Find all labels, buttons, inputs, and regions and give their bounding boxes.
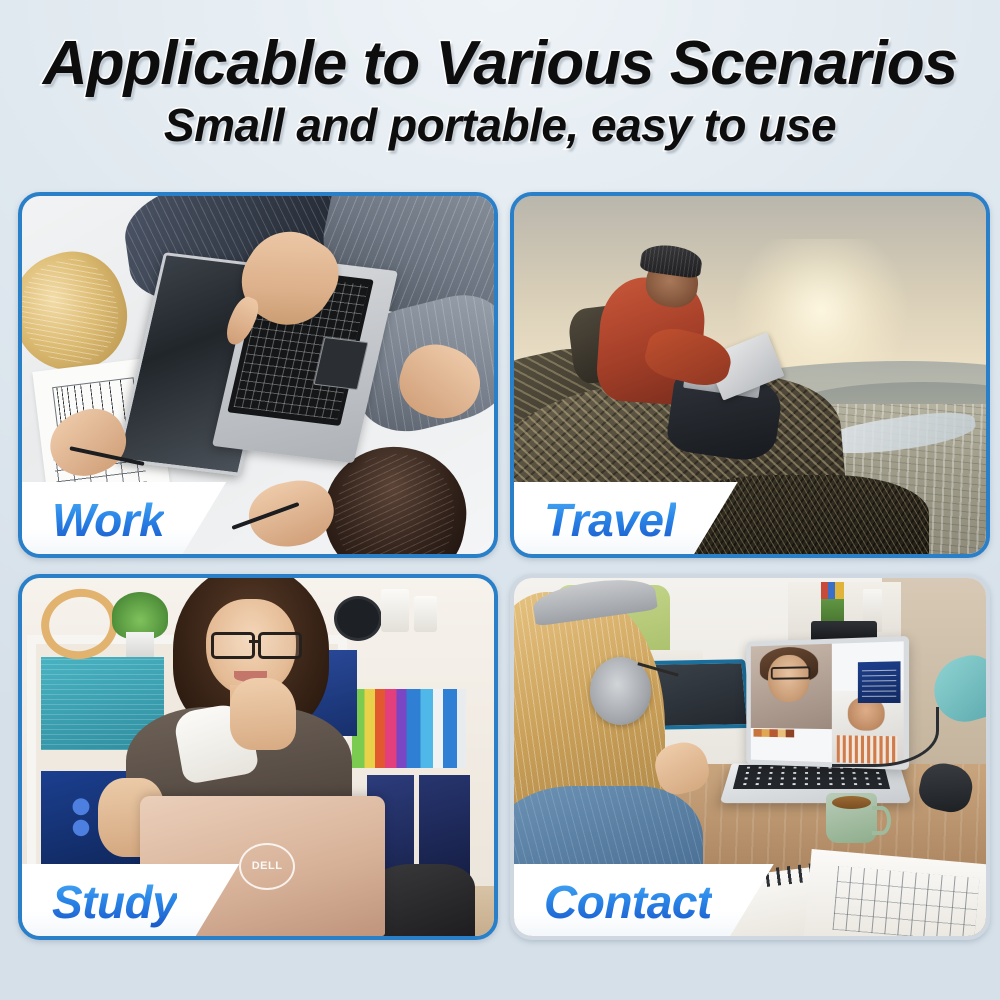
contact-blueprint-drawing (832, 866, 979, 936)
study-candle-two (414, 596, 438, 632)
page-title: Applicable to Various Scenarios (0, 0, 1000, 95)
scenario-card-travel[interactable]: Travel (510, 192, 990, 558)
contact-label-ribbon: Contact (510, 864, 774, 940)
study-glasses-left-lens (211, 632, 255, 659)
study-clock (334, 596, 382, 641)
study-plant-pot (126, 632, 154, 657)
study-dell-logo: DELL (239, 843, 295, 890)
scenario-card-grid: Work (18, 192, 982, 982)
scenario-card-study[interactable]: DELL Study (18, 574, 498, 940)
page-subtitle: Small and portable, easy to use (0, 95, 1000, 149)
contact-label: Contact (544, 875, 712, 929)
work-label: Work (52, 493, 164, 547)
scenario-card-contact[interactable]: Contact (510, 574, 990, 940)
contact-shared-document (858, 661, 900, 703)
study-candle-one (381, 589, 409, 632)
travel-label: Travel (544, 493, 676, 547)
work-bottom-hand (243, 474, 339, 554)
contact-coffee-mug (826, 793, 878, 843)
study-glasses-bridge (249, 640, 260, 643)
study-label: Study (52, 875, 177, 929)
contact-headphone-earcup (590, 657, 651, 725)
contact-tile-color-strip (753, 729, 793, 738)
study-glasses-right-lens (258, 632, 302, 659)
study-woman-hand-chin (230, 678, 296, 750)
contact-video-tile-woman (750, 644, 831, 729)
study-colorful-books (352, 689, 465, 768)
contact-tile-woman-glasses (771, 666, 810, 680)
scenario-card-work[interactable]: Work (18, 192, 498, 558)
header: Applicable to Various Scenarios Small an… (0, 0, 1000, 185)
promo-page: Applicable to Various Scenarios Small an… (0, 0, 1000, 1000)
contact-laptop-keyboard (733, 765, 890, 789)
contact-pens (821, 582, 845, 600)
